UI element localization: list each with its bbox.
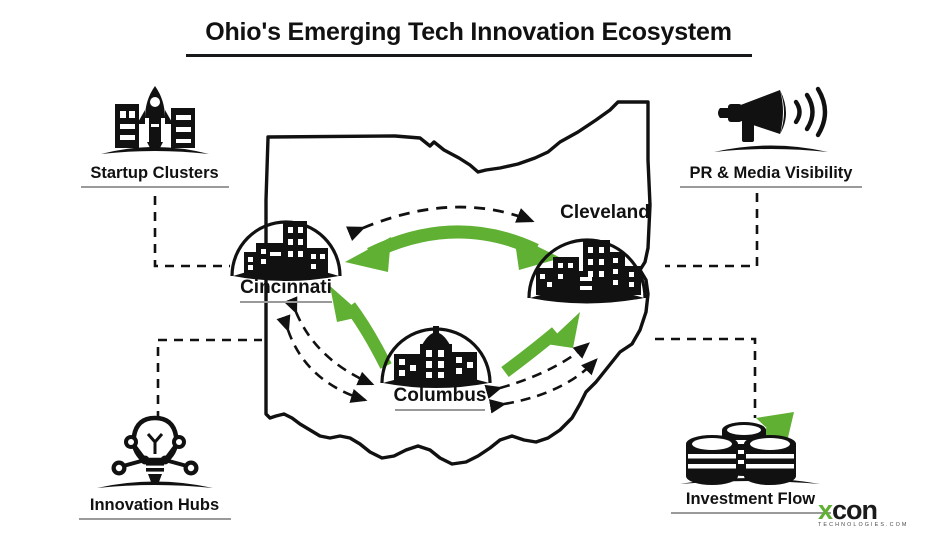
xcon-tagline: TECHNOLOGIES.COM bbox=[818, 522, 924, 528]
city-label-columbus-text: Columbus bbox=[340, 386, 540, 406]
feature-pr-media-visibility-underline bbox=[680, 186, 862, 188]
infographic-canvas: Ohio's Emerging Tech Innovation Ecosyste… bbox=[0, 0, 937, 550]
coins-growth-arrow-icon bbox=[678, 408, 824, 488]
city-node-cleveland[interactable] bbox=[529, 240, 645, 304]
city-label-columbus-underline bbox=[395, 409, 485, 411]
xcon-logo-con: con bbox=[832, 495, 877, 525]
xcon-logo[interactable]: xcon TECHNOLOGIES.COM bbox=[818, 498, 924, 528]
feature-innovation-hubs-label: Innovation Hubs bbox=[42, 496, 267, 514]
xcon-logo-x: x bbox=[818, 495, 832, 525]
lightbulb-network-icon bbox=[93, 414, 217, 494]
xcon-wordmark: xcon bbox=[818, 498, 924, 524]
city-label-cincinnati-text: Cincinnati bbox=[186, 278, 386, 298]
arrow-columbus-cleveland-green bbox=[505, 312, 580, 372]
megaphone-icon bbox=[708, 84, 834, 162]
feature-startup-clusters-underline bbox=[81, 186, 229, 188]
feature-pr-media-visibility-label: PR & Media Visibility bbox=[660, 164, 882, 182]
feature-startup-clusters[interactable]: Startup Clusters bbox=[42, 84, 267, 188]
feature-pr-media-visibility[interactable]: PR & Media Visibility bbox=[660, 84, 882, 188]
connector-startup-to-map bbox=[155, 196, 230, 266]
connector-hubs-to-map bbox=[158, 340, 262, 420]
city-label-cleveland: Cleveland bbox=[505, 203, 705, 223]
city-label-cleveland-text: Cleveland bbox=[505, 203, 705, 223]
city-label-cincinnati: Cincinnati bbox=[186, 278, 386, 303]
feature-innovation-hubs[interactable]: Innovation Hubs bbox=[42, 414, 267, 520]
city-node-cincinnati[interactable] bbox=[232, 221, 340, 281]
city-label-columbus: Columbus bbox=[340, 386, 540, 411]
feature-startup-clusters-label: Startup Clusters bbox=[42, 164, 267, 182]
city-label-cincinnati-underline bbox=[240, 301, 332, 303]
rocket-buildings-icon bbox=[95, 84, 215, 162]
arrow-cincinnati-cleveland-green bbox=[345, 232, 561, 272]
feature-investment-flow-underline bbox=[671, 512, 831, 514]
feature-innovation-hubs-underline bbox=[79, 518, 231, 520]
connector-invest-to-map bbox=[655, 339, 755, 418]
city-node-columbus[interactable] bbox=[382, 326, 490, 388]
